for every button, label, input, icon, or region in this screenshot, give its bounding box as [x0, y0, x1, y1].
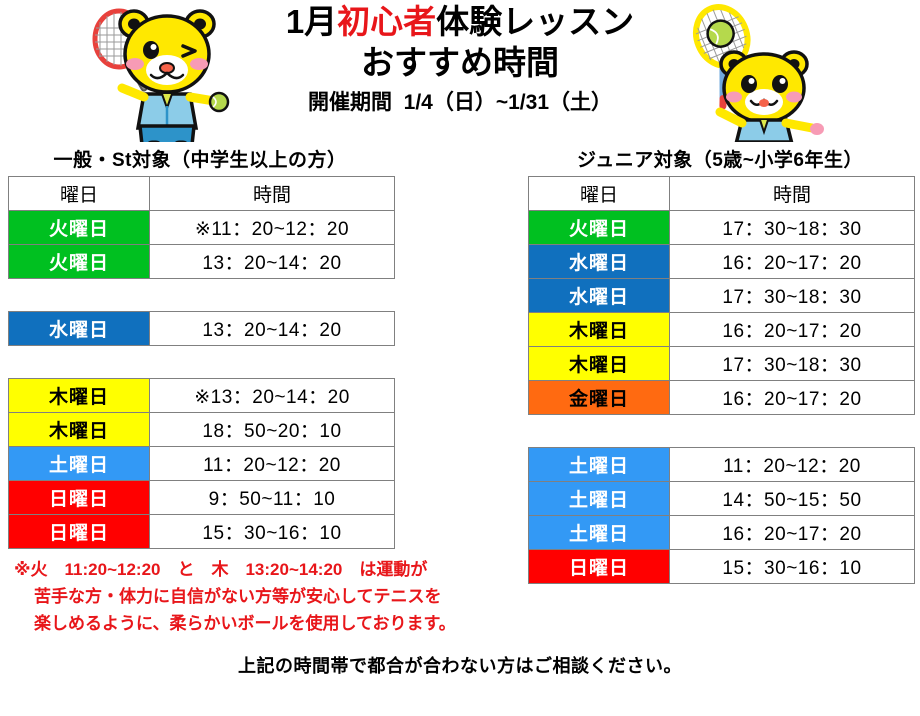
- cell-time: 17：30~18：30: [670, 347, 915, 381]
- right-schedule-block-1: 曜日時間火曜日17：30~18：30水曜日16：20~17：20水曜日17：30…: [528, 176, 915, 415]
- table-row[interactable]: 木曜日※13：20~14：20: [9, 379, 395, 413]
- cell-time: 16：20~17：20: [670, 516, 915, 550]
- footnote-soft-ball-note: ※火 11:20~12:20 と 木 13:20~14:20 は運動が苦手な方・…: [14, 556, 514, 637]
- column-header-time: 時間: [150, 177, 395, 211]
- period-value: 1/4（日）~1/31（土）: [404, 91, 612, 114]
- table-header-row: 曜日時間: [529, 177, 915, 211]
- table-row[interactable]: 土曜日11：20~12：20: [9, 447, 395, 481]
- column-header-time: 時間: [670, 177, 915, 211]
- cell-time: 14：50~15：50: [670, 482, 915, 516]
- left-schedule-block-2: 水曜日13：20~14：20: [8, 311, 395, 346]
- cell-time: 17：30~18：30: [670, 279, 915, 313]
- table-header-row: 曜日時間: [9, 177, 395, 211]
- table-row[interactable]: 木曜日17：30~18：30: [529, 347, 915, 381]
- table-row[interactable]: 木曜日18：50~20：10: [9, 413, 395, 447]
- cell-day: 土曜日: [529, 482, 670, 516]
- left-table-caption: 一般・St対象（中学生以上の方）: [8, 145, 392, 172]
- table-row[interactable]: 火曜日※11：20~12：20: [9, 211, 395, 245]
- title-month: 1月: [286, 3, 337, 40]
- cell-day: 日曜日: [9, 481, 150, 515]
- cell-day: 金曜日: [529, 381, 670, 415]
- cell-day: 木曜日: [529, 347, 670, 381]
- column-header-day: 曜日: [9, 177, 150, 211]
- cell-time: ※11：20~12：20: [150, 211, 395, 245]
- title-accent-beginner: 初心者: [337, 3, 436, 40]
- poster-period: 開催期間 1/4（日）~1/31（土）: [230, 88, 690, 118]
- table-row[interactable]: 火曜日17：30~18：30: [529, 211, 915, 245]
- right-table-caption: ジュニア対象（5歳~小学6年生）: [528, 145, 912, 172]
- cell-time: 17：30~18：30: [670, 211, 915, 245]
- table-row[interactable]: 金曜日16：20~17：20: [529, 381, 915, 415]
- cell-time: 15：30~16：10: [150, 515, 395, 549]
- cell-day: 日曜日: [9, 515, 150, 549]
- footnote-line-1: ※火 11:20~12:20 と 木 13:20~14:20 は運動が: [14, 556, 514, 583]
- cell-day: 火曜日: [529, 211, 670, 245]
- table-row[interactable]: 土曜日14：50~15：50: [529, 482, 915, 516]
- cell-day: 日曜日: [529, 550, 670, 584]
- column-header-day: 曜日: [529, 177, 670, 211]
- cell-time: 13：20~14：20: [150, 245, 395, 279]
- poster-title-block: 1月初心者体験レッスン おすすめ時間 開催期間 1/4（日）~1/31（土）: [230, 2, 690, 118]
- cell-day: 木曜日: [9, 379, 150, 413]
- cell-day: 木曜日: [529, 313, 670, 347]
- poster-header: 1月初心者体験レッスン おすすめ時間 開催期間 1/4（日）~1/31（土）: [0, 0, 920, 140]
- cell-day: 土曜日: [529, 448, 670, 482]
- closing-contact-note: 上記の時間帯で都合が合わない方はご相談ください。: [0, 652, 920, 678]
- table-row[interactable]: 日曜日9：50~11：10: [9, 481, 395, 515]
- cell-day: 水曜日: [529, 279, 670, 313]
- table-row[interactable]: 土曜日16：20~17：20: [529, 516, 915, 550]
- cell-time: 16：20~17：20: [670, 313, 915, 347]
- footnote-line-2: 苦手な方・体力に自信がない方等が安心してテニスを: [14, 583, 514, 610]
- footnote-line-3: 楽しめるように、柔らかいボールを使用しております。: [14, 610, 514, 637]
- bear-mascot-winking-with-racket-icon: [82, 2, 252, 142]
- cell-day: 木曜日: [9, 413, 150, 447]
- cell-time: 11：20~12：20: [670, 448, 915, 482]
- bear-mascot-serving-with-racket-icon: [672, 2, 847, 142]
- cell-day: 土曜日: [9, 447, 150, 481]
- cell-time: 13：20~14：20: [150, 312, 395, 346]
- table-row[interactable]: 水曜日17：30~18：30: [529, 279, 915, 313]
- table-row[interactable]: 水曜日13：20~14：20: [9, 312, 395, 346]
- poster-title-line1: 1月初心者体験レッスン: [230, 2, 690, 42]
- table-row[interactable]: 土曜日11：20~12：20: [529, 448, 915, 482]
- title-trial-lesson: 体験レッスン: [436, 3, 634, 40]
- table-row[interactable]: 日曜日15：30~16：10: [529, 550, 915, 584]
- left-schedule-block-3: 木曜日※13：20~14：20木曜日18：50~20：10土曜日11：20~12…: [8, 378, 395, 549]
- table-row[interactable]: 木曜日16：20~17：20: [529, 313, 915, 347]
- cell-time: 16：20~17：20: [670, 245, 915, 279]
- cell-time: 18：50~20：10: [150, 413, 395, 447]
- cell-day: 土曜日: [529, 516, 670, 550]
- cell-time: ※13：20~14：20: [150, 379, 395, 413]
- cell-time: 16：20~17：20: [670, 381, 915, 415]
- poster-title-line2: おすすめ時間: [230, 42, 690, 84]
- right-schedule-block-2: 土曜日11：20~12：20土曜日14：50~15：50土曜日16：20~17：…: [528, 447, 915, 584]
- left-schedule-block-1: 曜日時間火曜日※11：20~12：20火曜日13：20~14：20: [8, 176, 395, 279]
- cell-day: 火曜日: [9, 245, 150, 279]
- cell-time: 9：50~11：10: [150, 481, 395, 515]
- cell-time: 11：20~12：20: [150, 447, 395, 481]
- cell-day: 水曜日: [529, 245, 670, 279]
- cell-time: 15：30~16：10: [670, 550, 915, 584]
- table-row[interactable]: 日曜日15：30~16：10: [9, 515, 395, 549]
- period-label: 開催期間: [308, 91, 392, 114]
- cell-day: 火曜日: [9, 211, 150, 245]
- table-row[interactable]: 火曜日13：20~14：20: [9, 245, 395, 279]
- table-row[interactable]: 水曜日16：20~17：20: [529, 245, 915, 279]
- cell-day: 水曜日: [9, 312, 150, 346]
